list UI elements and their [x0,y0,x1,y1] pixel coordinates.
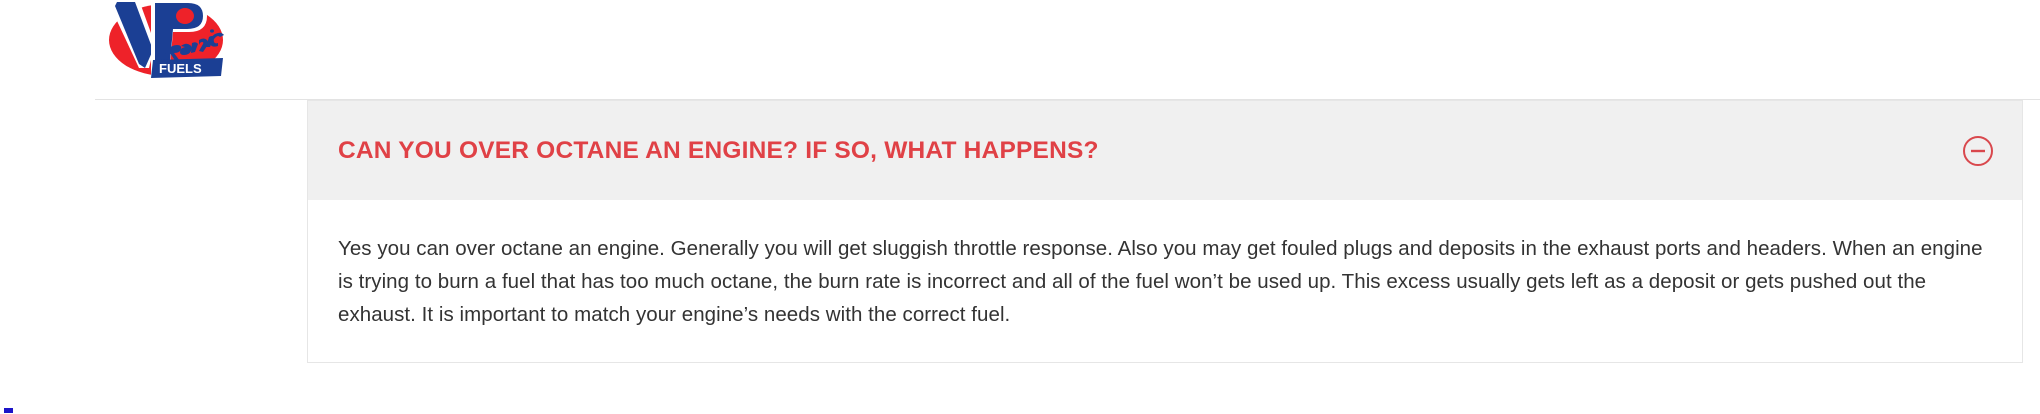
svg-text:FUELS: FUELS [159,61,202,76]
faq-question-header[interactable]: Can you over octane an engine? If so, wh… [308,100,2022,200]
corner-artifact [4,408,13,413]
faq-item: Can you over octane an engine? If so, wh… [307,100,2023,363]
circle-minus-icon[interactable] [1962,135,1994,167]
faq-answer-text: Yes you can over octane an engine. Gener… [338,232,1990,332]
vp-racing-fuels-logo[interactable]: FUELS [95,0,237,82]
faq-answer-panel: Yes you can over octane an engine. Gener… [308,200,2022,362]
page-root: FUELS Can you over octane an engine? If … [0,0,2040,414]
site-header: FUELS [0,0,2040,100]
faq-question-text: Can you over octane an engine? If so, wh… [338,136,1099,165]
faq-accordion: Can you over octane an engine? If so, wh… [307,100,2023,363]
